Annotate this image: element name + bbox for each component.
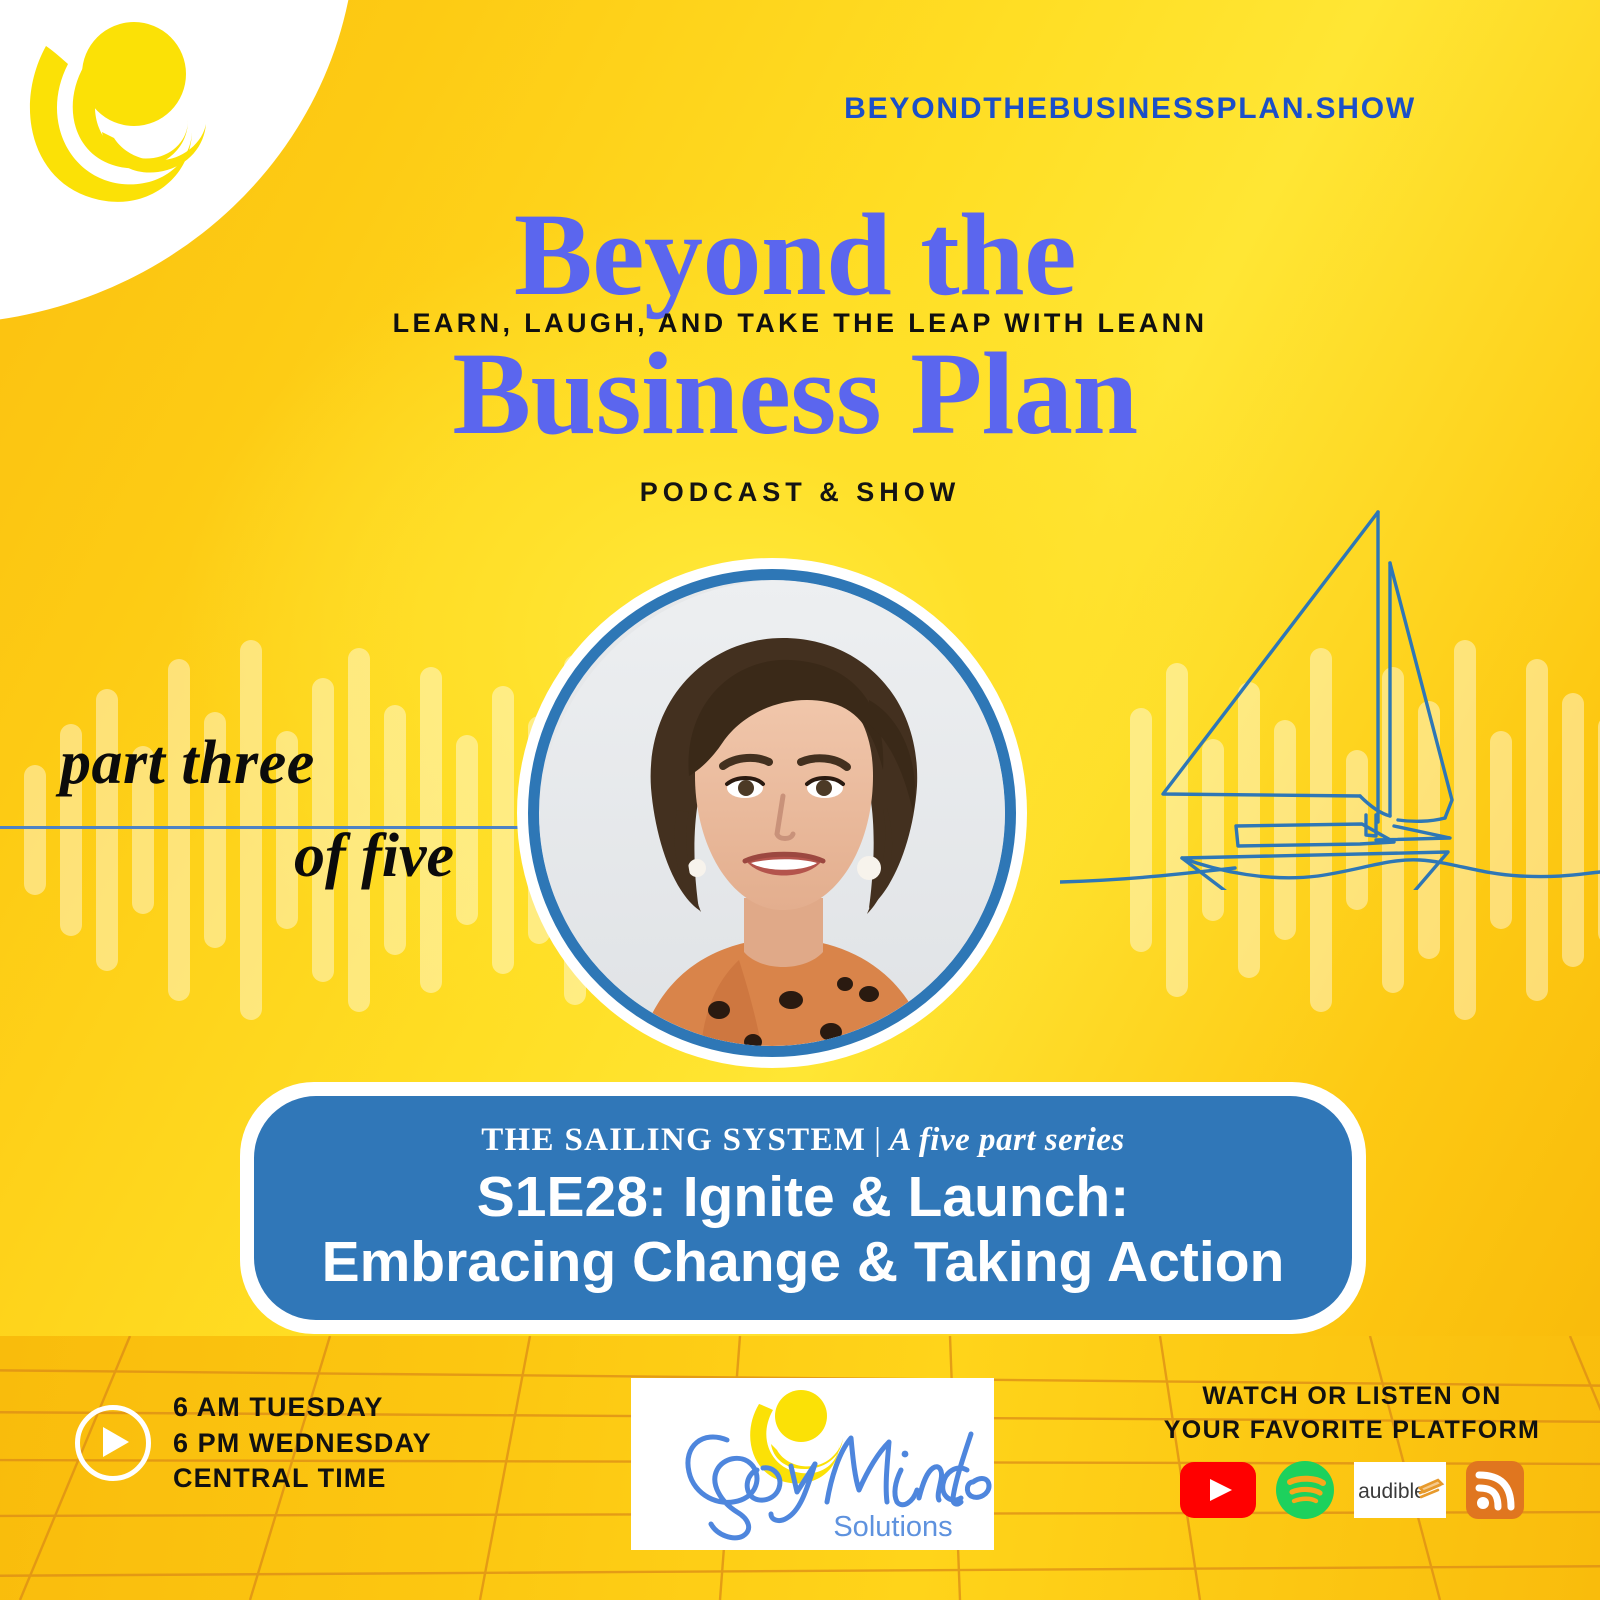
platforms-heading-line-1: WATCH OR LISTEN ON	[1152, 1380, 1552, 1414]
episode-title-line-1: S1E28: Ignite & Launch:	[477, 1165, 1129, 1229]
schedule-line-1: 6 AM TUESDAY	[173, 1390, 432, 1426]
play-circle-icon[interactable]	[75, 1405, 151, 1481]
show-title-line-1: Beyond the	[0, 196, 1600, 314]
episode-title-line-2: Embracing Change & Taking Action	[322, 1230, 1285, 1294]
avatar	[539, 580, 1005, 1046]
brand-subtitle: Solutions	[833, 1511, 952, 1543]
series-suffix: A five part series	[889, 1122, 1124, 1158]
audible-icon[interactable]: audible	[1354, 1462, 1446, 1518]
schedule-lines: 6 AM TUESDAY 6 PM WEDNESDAY CENTRAL TIME	[173, 1390, 432, 1497]
host-portrait-frame	[517, 558, 1027, 1068]
waveform-bar	[492, 686, 514, 975]
joy-minder-logo: Solutions	[631, 1378, 994, 1550]
episode-banner-frame: THE SAILING SYSTEM|A five part series S1…	[240, 1082, 1366, 1334]
site-url-text: BEYONDTHEBUSINESSPLAN.SHOW	[844, 92, 1416, 126]
waveform-bar	[24, 765, 46, 894]
spotify-icon[interactable]	[1276, 1461, 1334, 1519]
part-label-line-1: part three	[60, 728, 480, 799]
schedule-block: 6 AM TUESDAY 6 PM WEDNESDAY CENTRAL TIME	[75, 1390, 432, 1497]
audible-wordmark: audible	[1358, 1480, 1426, 1503]
rss-icon[interactable]	[1466, 1461, 1524, 1519]
episode-banner: THE SAILING SYSTEM|A five part series S1…	[254, 1096, 1352, 1320]
platforms-block: WATCH OR LISTEN ON YOUR FAVORITE PLATFOR…	[1152, 1380, 1552, 1519]
platform-icon-row: audible	[1152, 1461, 1552, 1519]
podcast-kicker: PODCAST & SHOW	[0, 477, 1600, 508]
portrait-ring	[528, 569, 1016, 1057]
part-label-line-2: of five	[60, 821, 480, 892]
show-title-block: Beyond the LEARN, LAUGH, AND TAKE THE LE…	[0, 196, 1600, 508]
show-title-line-2: Business Plan	[0, 335, 1600, 453]
youtube-icon[interactable]	[1180, 1462, 1256, 1518]
series-prefix: THE SAILING SYSTEM	[481, 1122, 866, 1158]
series-line: THE SAILING SYSTEM|A five part series	[481, 1122, 1125, 1159]
schedule-line-3: CENTRAL TIME	[173, 1461, 432, 1497]
series-separator: |	[866, 1122, 889, 1158]
sailboat-line-art-icon	[1060, 470, 1600, 895]
platforms-heading-line-2: YOUR FAVORITE PLATFORM	[1152, 1414, 1552, 1448]
schedule-line-2: 6 PM WEDNESDAY	[173, 1426, 432, 1462]
podcast-promo-poster: BEYONDTHEBUSINESSPLAN.SHOW Beyond the LE…	[0, 0, 1600, 1600]
part-label: part three of five	[60, 728, 480, 892]
